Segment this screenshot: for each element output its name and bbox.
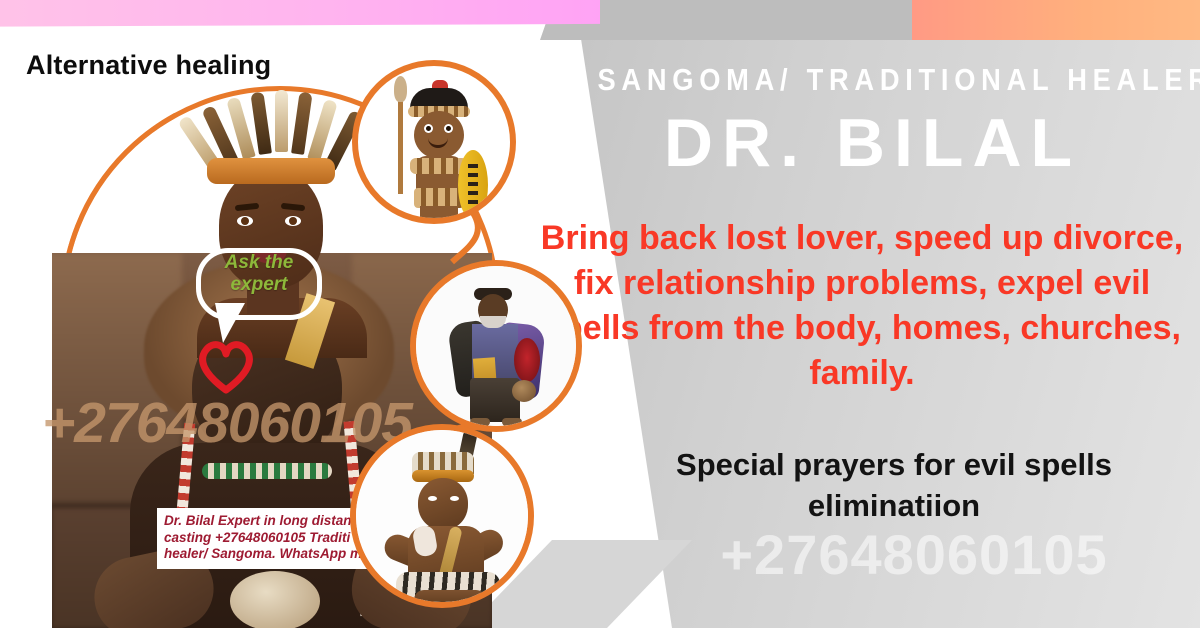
subheading-text: Special prayers for evil spells eliminat…: [600, 444, 1188, 526]
badge-traditional-healer[interactable]: [410, 260, 582, 432]
heart-icon: [196, 338, 256, 394]
badge-dancer[interactable]: [350, 424, 534, 608]
headband: [207, 158, 335, 184]
services-text: Bring back lost lover, speed up divorce,…: [536, 216, 1188, 396]
kicker-text: SANGOMA/ TRADITIONAL HEALER: [598, 62, 1148, 98]
top-salmon-band: [912, 0, 1200, 40]
dancer-icon: [356, 430, 528, 602]
speech-bubble-label: Ask the expert: [206, 252, 312, 296]
watermark-phone-right: +27648060105: [640, 522, 1188, 587]
page-title: Alternative healing: [26, 50, 271, 81]
traditional-healer-icon: [416, 266, 576, 426]
healer-name: DR. BILAL: [560, 104, 1185, 182]
poster-canvas: Alternative healing: [0, 0, 1200, 628]
badge-zulu-warrior[interactable]: [352, 60, 516, 224]
zulu-warrior-icon: [358, 66, 510, 218]
